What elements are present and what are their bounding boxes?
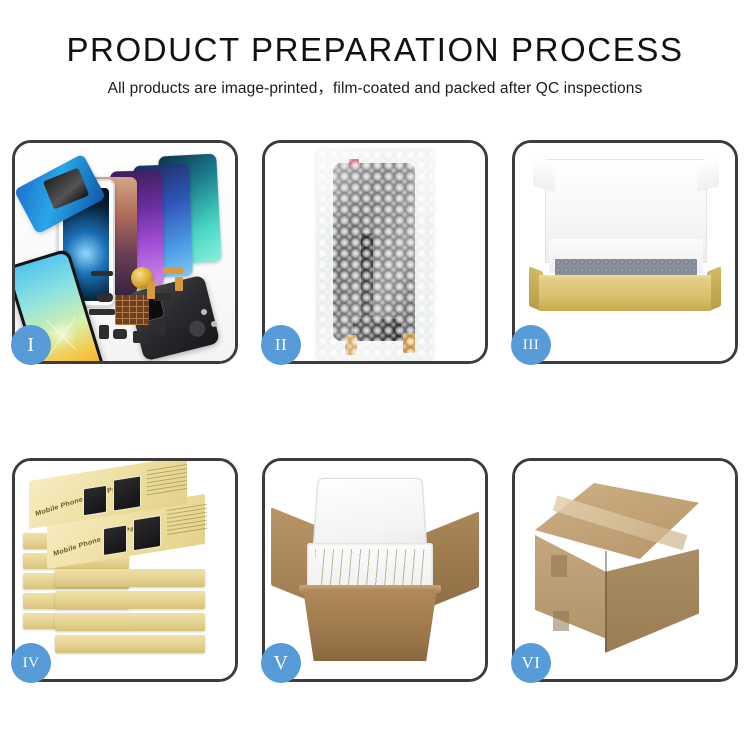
process-step-panel-5[interactable]: V	[262, 458, 488, 682]
process-step-panel-3[interactable]: III	[512, 140, 738, 364]
small-part-icon	[153, 293, 171, 301]
step-badge-6: VI	[511, 643, 551, 683]
small-part-icon	[133, 331, 145, 343]
step-badge-5: V	[261, 643, 301, 683]
box-window-icon	[133, 515, 161, 551]
bubble-wrapped-screen-illustration	[265, 143, 485, 361]
step-image-2	[265, 143, 485, 361]
box-window-icon	[83, 485, 107, 517]
box-front-panel-icon	[539, 281, 711, 311]
open-carton-illustration	[265, 461, 485, 679]
step-image-4: Mobile Phone Spare Parts Mobile Phone Sp…	[15, 461, 235, 679]
carton-body-icon	[303, 589, 437, 661]
box-window-icon	[113, 475, 141, 511]
flex-cable-part-icon	[175, 277, 183, 291]
step-image-6	[515, 461, 735, 679]
carton-right-face-icon	[605, 549, 699, 653]
chip-array-part-icon	[115, 295, 149, 325]
screw-part-icon	[201, 309, 207, 315]
box-window-icon	[103, 524, 127, 556]
stacked-box	[55, 613, 205, 631]
small-part-icon	[89, 309, 115, 315]
step-badge-1: I	[11, 325, 51, 365]
foam-lid-icon	[312, 478, 427, 552]
page-header: PRODUCT PREPARATION PROCESS All products…	[0, 0, 750, 100]
plastic-sheen-icon	[317, 149, 433, 361]
small-part-icon	[113, 329, 127, 339]
open-gold-box-illustration	[515, 143, 735, 361]
flex-cable-part-icon	[163, 267, 183, 274]
step-badge-4: IV	[11, 643, 51, 683]
page-title: PRODUCT PREPARATION PROCESS	[0, 30, 750, 70]
flex-cable-part-icon	[147, 281, 155, 299]
carton-tab-icon	[553, 611, 569, 631]
box-stack: Mobile Phone Spare Parts Mobile Phone Sp…	[15, 461, 235, 679]
phone-parts-illustration	[15, 143, 235, 361]
process-step-panel-4[interactable]: Mobile Phone Spare Parts Mobile Phone Sp…	[12, 458, 238, 682]
gold-box-stack-illustration: Mobile Phone Spare Parts Mobile Phone Sp…	[15, 461, 235, 679]
stacked-box	[55, 591, 205, 609]
step-image-5	[265, 461, 485, 679]
small-part-icon	[91, 271, 113, 276]
step-badge-2: II	[261, 325, 301, 365]
carton-corner-seam-icon	[605, 551, 607, 651]
step-image-3	[515, 143, 735, 361]
step-badge-3: III	[511, 325, 551, 365]
stacked-box	[55, 569, 205, 587]
process-step-panel-2[interactable]: II	[262, 140, 488, 364]
carton-tab-icon	[551, 555, 567, 577]
small-part-icon	[97, 293, 113, 302]
box-brand-label: Mobile Phone Spare Parts	[53, 523, 144, 558]
process-step-grid: I II	[12, 140, 738, 682]
screw-part-icon	[211, 321, 217, 327]
process-step-panel-6[interactable]: VI	[512, 458, 738, 682]
carton-left-face-icon	[535, 535, 607, 639]
page-subtitle: All products are image-printed，film-coat…	[0, 78, 750, 100]
small-part-icon	[155, 319, 165, 335]
box-spec-lines-icon	[167, 504, 207, 536]
bubble-wrap-bag-icon	[317, 149, 433, 361]
step-image-1	[15, 143, 235, 361]
stacked-box	[55, 635, 205, 653]
process-step-panel-1[interactable]: I	[12, 140, 238, 364]
sealed-carton-illustration	[515, 461, 735, 679]
small-part-icon	[99, 325, 109, 339]
box-spec-lines-icon	[147, 464, 187, 496]
